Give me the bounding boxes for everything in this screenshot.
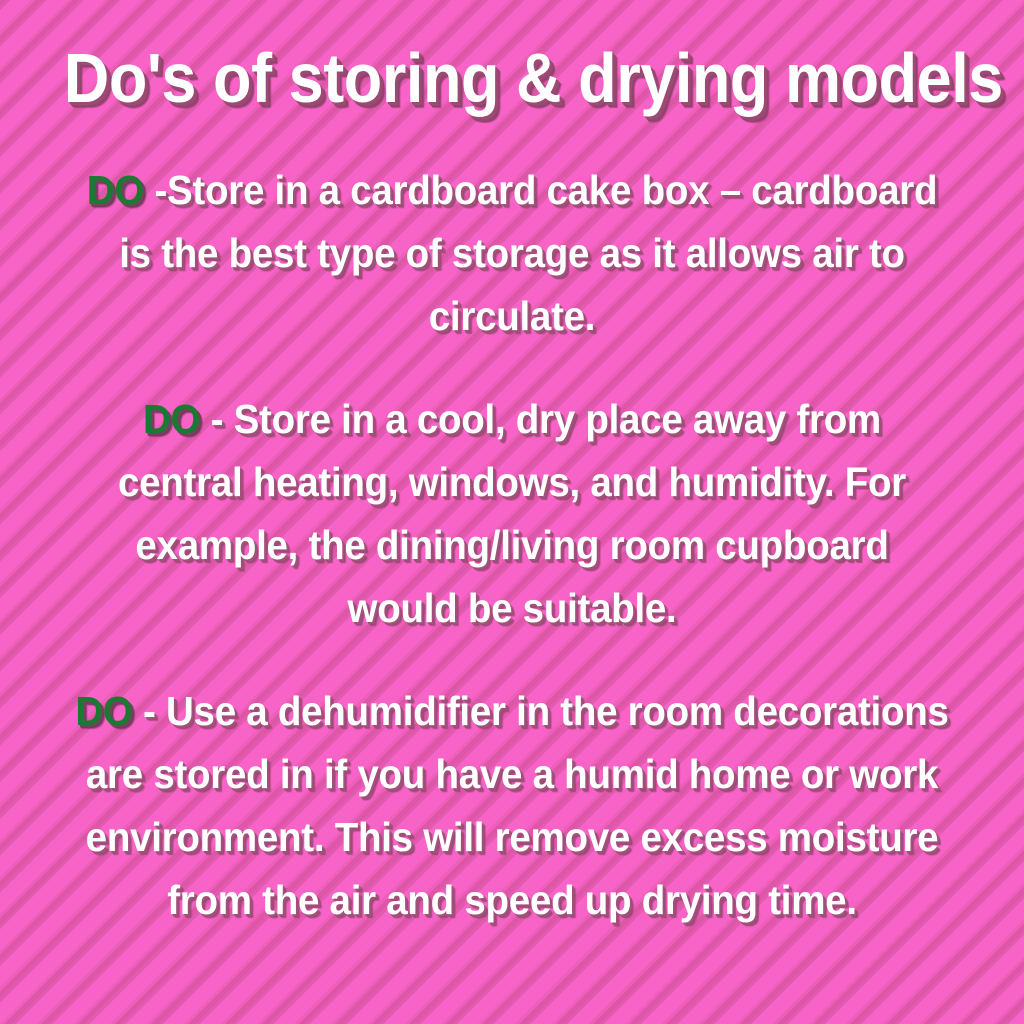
tip-paragraph-1: DO -Store in a cardboard cake box – card… <box>44 159 980 348</box>
poster-content: Do's of storing & drying models DO -Stor… <box>0 0 1024 932</box>
do-label-3: DO <box>75 688 132 734</box>
poster-canvas: Do's of storing & drying models DO -Stor… <box>0 0 1024 1024</box>
tip-text-3: - Use a dehumidifier in the room decorat… <box>86 688 949 923</box>
tip-text-2: - Store in a cool, dry place away from c… <box>118 396 906 631</box>
tip-paragraph-3: DO - Use a dehumidifier in the room deco… <box>44 680 980 932</box>
do-label-1: DO <box>87 167 144 213</box>
page-title: Do's of storing & drying models <box>64 0 960 113</box>
do-label-2: DO <box>143 396 200 442</box>
tip-text-1: -Store in a cardboard cake box – cardboa… <box>119 167 937 339</box>
tip-paragraph-2: DO - Store in a cool, dry place away fro… <box>44 388 980 640</box>
